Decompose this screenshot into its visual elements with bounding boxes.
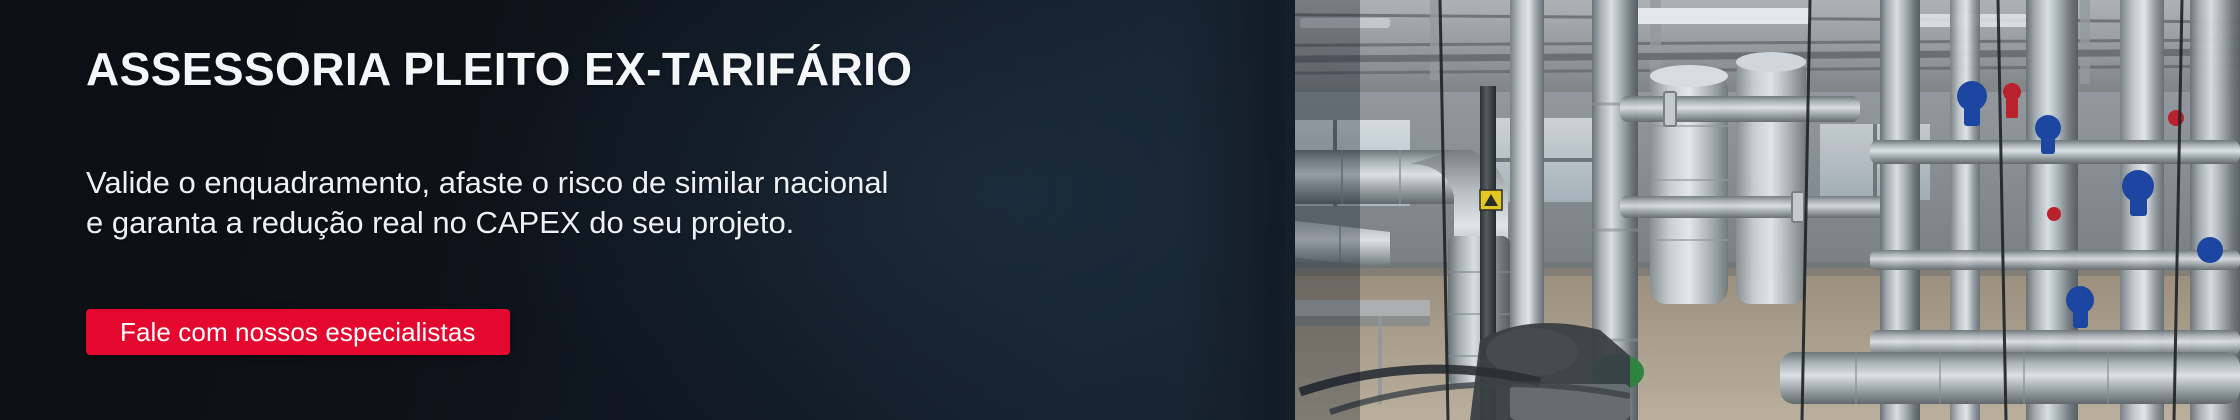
subcopy-line-2: e garanta a redução real no CAPEX do seu… <box>86 203 888 243</box>
promo-banner: ASSESSORIA PLEITO EX-TARIFÁRIO Valide o … <box>0 0 2240 420</box>
subcopy: Valide o enquadramento, afaste o risco d… <box>86 163 888 244</box>
cta-contact-specialists-button[interactable]: Fale com nossos especialistas <box>86 309 510 355</box>
page-title: ASSESSORIA PLEITO EX-TARIFÁRIO <box>86 44 912 96</box>
banner-content: ASSESSORIA PLEITO EX-TARIFÁRIO Valide o … <box>0 0 1285 420</box>
industrial-plant-photo <box>1180 0 2240 420</box>
subcopy-line-1: Valide o enquadramento, afaste o risco d… <box>86 163 888 203</box>
